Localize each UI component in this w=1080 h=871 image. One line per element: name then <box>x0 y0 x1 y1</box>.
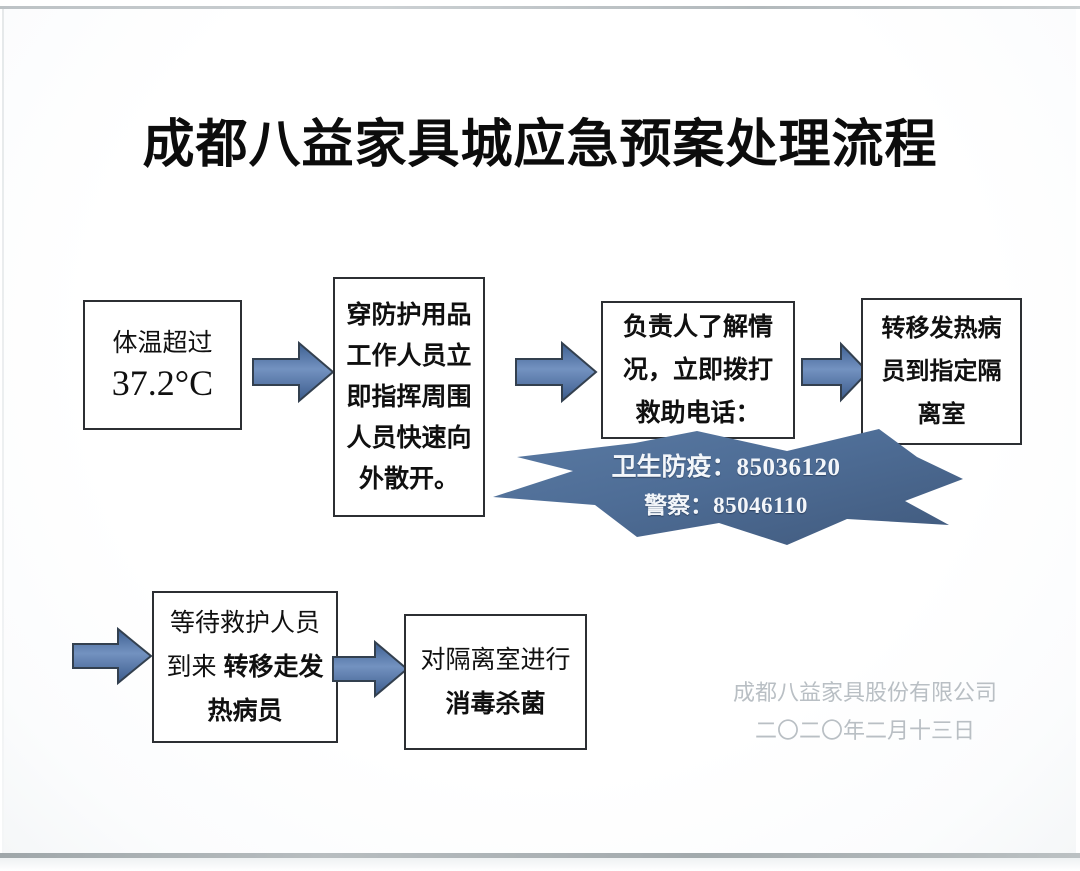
transfer-to-isolation-box: 转移发热病 员到指定隔 离室 <box>861 298 1022 445</box>
emergency-phone-banner <box>487 427 965 549</box>
wait-box-line-2-bold: 转移走发 <box>223 653 323 681</box>
protective-gear-box-line-1: 穿防护用品 <box>346 295 471 336</box>
disinfect-isolation-room-box: 对隔离室进行 消毒杀菌 <box>404 614 587 750</box>
protective-gear-box-line-4: 人员快速向 <box>346 418 471 459</box>
disinfect-box-line-1: 对隔离室进行 <box>420 638 570 682</box>
arrow-temp-to-protect <box>249 337 337 407</box>
wait-box-line-2: 到来 转移走发 <box>167 645 324 689</box>
footer-date: 二〇二〇年二月十三日 <box>700 712 1030 750</box>
call-for-help-box-line-1: 负责人了解情 <box>623 306 773 349</box>
protective-gear-box-line-3: 即指挥周围 <box>346 377 471 418</box>
transfer-to-isolation-box-line-2: 员到指定隔 <box>882 350 1002 393</box>
call-for-help-box-line-2: 况，立即拨打 <box>623 349 773 392</box>
temperature-box-line-1: 体温超过 <box>112 327 212 360</box>
slide-footer: 成都八益家具股份有限公司 二〇二〇年二月十三日 <box>700 674 1030 750</box>
protective-gear-box: 穿防护用品 工作人员立 即指挥周围 人员快速向 外散开。 <box>333 277 485 517</box>
page-title-suffix: 应急预案处理流程 <box>514 116 938 174</box>
protective-gear-box-line-5: 外散开。 <box>359 459 459 500</box>
call-for-help-box: 负责人了解情 况，立即拨打 救助电话： <box>601 301 795 439</box>
transfer-to-isolation-box-line-1: 转移发热病 <box>882 307 1002 350</box>
protective-gear-box-line-2: 工作人员立 <box>346 336 471 377</box>
slide-canvas: 成都八益家具城应急预案处理流程 体温超过 37.2°C 穿防护用品 工作人员立 … <box>0 0 1080 871</box>
slide-frame-bottom-edge <box>0 853 1080 858</box>
temperature-box-line-2: 37.2°C <box>112 362 213 404</box>
arrow-wait-to-disinfect <box>330 637 410 701</box>
disinfect-box-line-2: 消毒杀菌 <box>445 682 545 726</box>
temperature-box: 体温超过 37.2°C <box>83 300 242 430</box>
arrow-protect-to-call <box>512 337 600 407</box>
wait-box-line-3: 热病员 <box>207 689 282 733</box>
arrow-into-wait <box>70 624 154 688</box>
wait-for-ambulance-box: 等待救护人员 到来 转移走发 热病员 <box>152 591 338 743</box>
wait-box-line-2-plain: 到来 <box>167 653 224 681</box>
page-title: 成都八益家具城应急预案处理流程 <box>0 114 1080 176</box>
page-title-prefix: 成都八益家具城 <box>142 116 513 174</box>
slide-frame-top-edge <box>0 6 1080 9</box>
footer-company: 成都八益家具股份有限公司 <box>700 674 1030 712</box>
wait-box-line-1: 等待救护人员 <box>170 601 320 645</box>
slide-frame-bottom-glow <box>0 858 1080 871</box>
